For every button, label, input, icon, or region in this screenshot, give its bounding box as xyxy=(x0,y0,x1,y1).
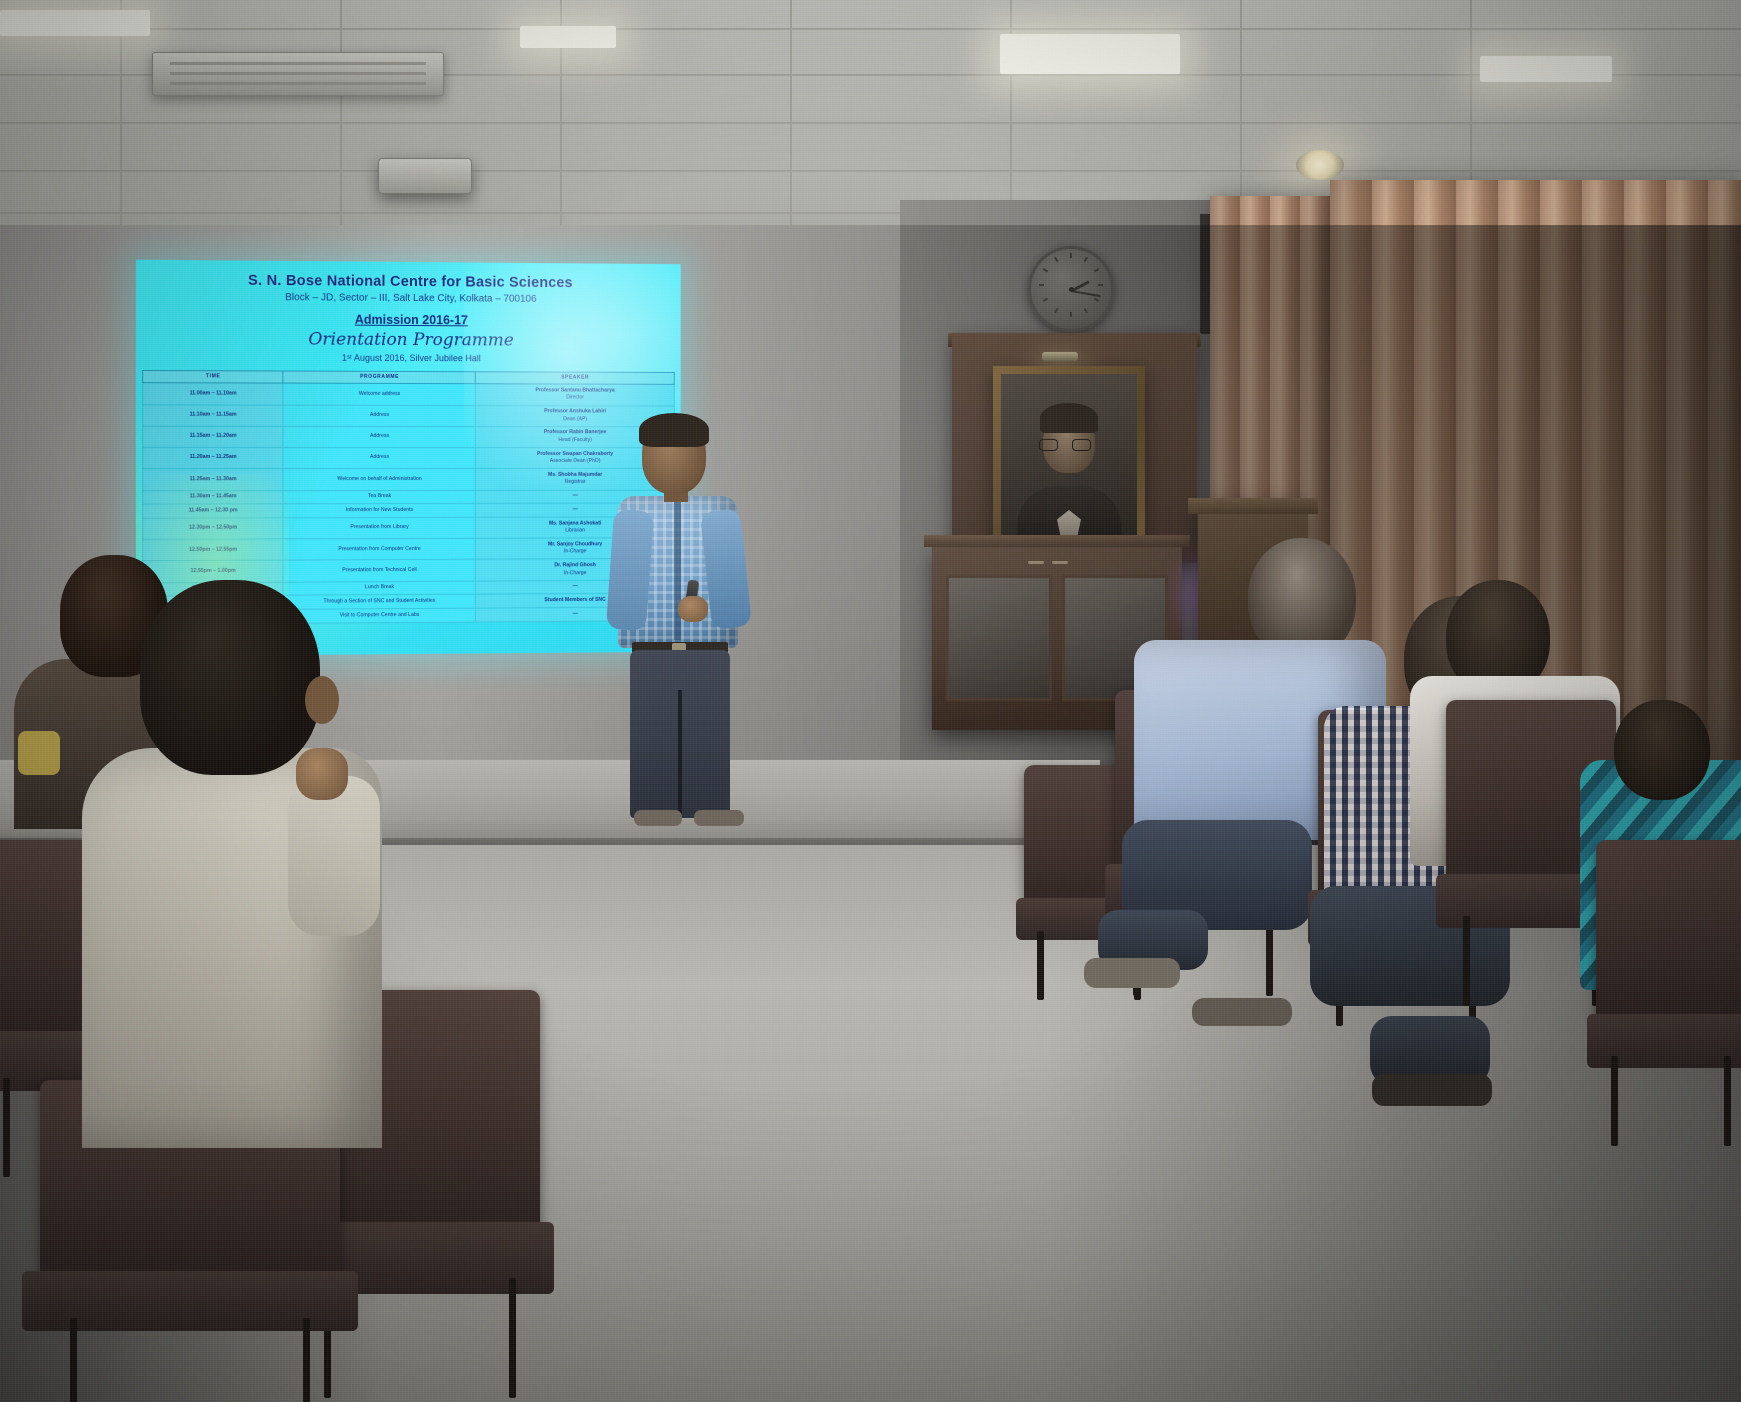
cell-programme: Address xyxy=(283,405,475,427)
table-row: 12.30pm – 12.50pmPresentation from Libra… xyxy=(143,517,675,540)
audience-arm xyxy=(288,776,380,936)
cell-time: 12.30pm – 12.50pm xyxy=(143,518,284,540)
speaker-role: Director xyxy=(478,395,672,403)
speaker-name: — xyxy=(573,583,578,589)
table-row: 11.10am – 11.15amAddressProfessor Anshuk… xyxy=(143,404,675,426)
table-row: 11.30am – 11.45amTea Break— xyxy=(143,490,675,505)
audience-ear xyxy=(305,676,339,724)
cell-programme: Presentation from Computer Centre xyxy=(283,538,475,560)
recessed-downlight xyxy=(1296,150,1344,180)
cell-time: 11.25am – 11.30am xyxy=(143,469,284,491)
speaker-name: Ms. Shobha Majumdar xyxy=(548,472,602,478)
table-row: 11.45am – 12.30 pmInformation for New St… xyxy=(143,503,675,518)
speaker-name: Professor Santanu Bhattacharya xyxy=(535,387,614,393)
ceiling-light-1 xyxy=(0,10,150,36)
speaker-name: Professor Anshuka Lahiri xyxy=(544,408,606,414)
speaker-name: Professor Swapan Chakraborty xyxy=(537,451,613,457)
cell-programme: Address xyxy=(283,447,475,468)
cell-programme: Presentation from Library xyxy=(283,517,475,539)
slide-institute-title: S. N. Bose National Centre for Basic Sci… xyxy=(136,272,681,292)
table-row: 11.25am – 11.30amWelcome on behalf of Ad… xyxy=(143,469,675,491)
chair-right-far xyxy=(1596,840,1741,1140)
audience-member-foreground xyxy=(60,580,390,1140)
cell-programme: Welcome on behalf of Administration xyxy=(283,469,475,490)
cell-time: 11.30am – 11.45am xyxy=(143,490,284,504)
table-row: 11.20am – 11.25amAddressProfessor Swapan… xyxy=(143,447,675,468)
shoulder-bag xyxy=(18,731,60,775)
column-header-programme: PROGRAMME xyxy=(283,371,475,384)
presenter-hand xyxy=(678,596,708,622)
cell-speaker: Professor Santanu BhattacharyaDirector xyxy=(475,384,674,406)
cell-programme: Welcome address xyxy=(283,383,475,405)
presenter-shoe-left xyxy=(634,810,682,826)
audience-head xyxy=(140,580,320,775)
slide-admission-line: Admission 2016-17 xyxy=(136,311,681,328)
audience-hand xyxy=(296,748,348,800)
speaker-name: Dr. Rajind Ghosh xyxy=(554,562,595,568)
slide-date-venue: 1ˢᵗ August 2016, Silver Jubilee Hall xyxy=(136,352,681,364)
ceiling-light-3 xyxy=(1000,34,1180,74)
speaker-name: Mr. Sanjoy Choudhury xyxy=(548,541,602,547)
cell-time: 11.15am – 11.20am xyxy=(143,426,284,448)
audience-head xyxy=(1614,700,1710,800)
slide-address: Block – JD, Sector – III, Salt Lake City… xyxy=(136,291,681,306)
speaker-name: — xyxy=(573,611,578,617)
cell-time: 11.45am – 12.30 pm xyxy=(143,504,284,518)
ceiling-light-2 xyxy=(520,26,616,48)
column-header-speaker: SPEAKER xyxy=(475,372,674,385)
speaker-name: — xyxy=(573,506,578,512)
presenter xyxy=(612,418,772,828)
column-header-time: TIME xyxy=(143,371,284,384)
ceiling-light-4 xyxy=(1480,56,1612,82)
table-row: 12.50pm – 12.55pmPresentation from Compu… xyxy=(143,538,675,561)
slide-heading: Orientation Programme xyxy=(136,328,681,351)
speaker-name: — xyxy=(573,493,578,499)
ac-vent xyxy=(152,52,444,96)
cell-time: 11.00am – 11.10am xyxy=(143,383,284,405)
table-row: 11.00am – 11.10amWelcome addressProfesso… xyxy=(143,383,675,406)
speaker-name: Professor Rabin Banerjee xyxy=(544,430,607,436)
auditorium-scene: S. N. Bose National Centre for Basic Sci… xyxy=(0,0,1741,1402)
presenter-shoe-right xyxy=(694,810,744,826)
cell-programme: Information for New Students xyxy=(283,504,475,518)
cell-time: 11.10am – 11.15am xyxy=(143,404,284,426)
presenter-left-arm xyxy=(606,509,654,631)
cell-programme: Address xyxy=(283,426,475,447)
table-row: 11.15am – 11.20amAddressProfessor Rabin … xyxy=(143,426,675,448)
speaker-name: Student Members of SNC xyxy=(544,597,605,603)
cell-programme: Tea Break xyxy=(283,490,475,504)
cell-programme: Presentation from Technical Cell xyxy=(283,560,475,582)
cell-time: 11.20am – 11.25am xyxy=(143,447,284,468)
speaker-name: Ms. Sanjana Ashokati xyxy=(549,520,601,526)
ceiling-projector xyxy=(378,158,472,194)
